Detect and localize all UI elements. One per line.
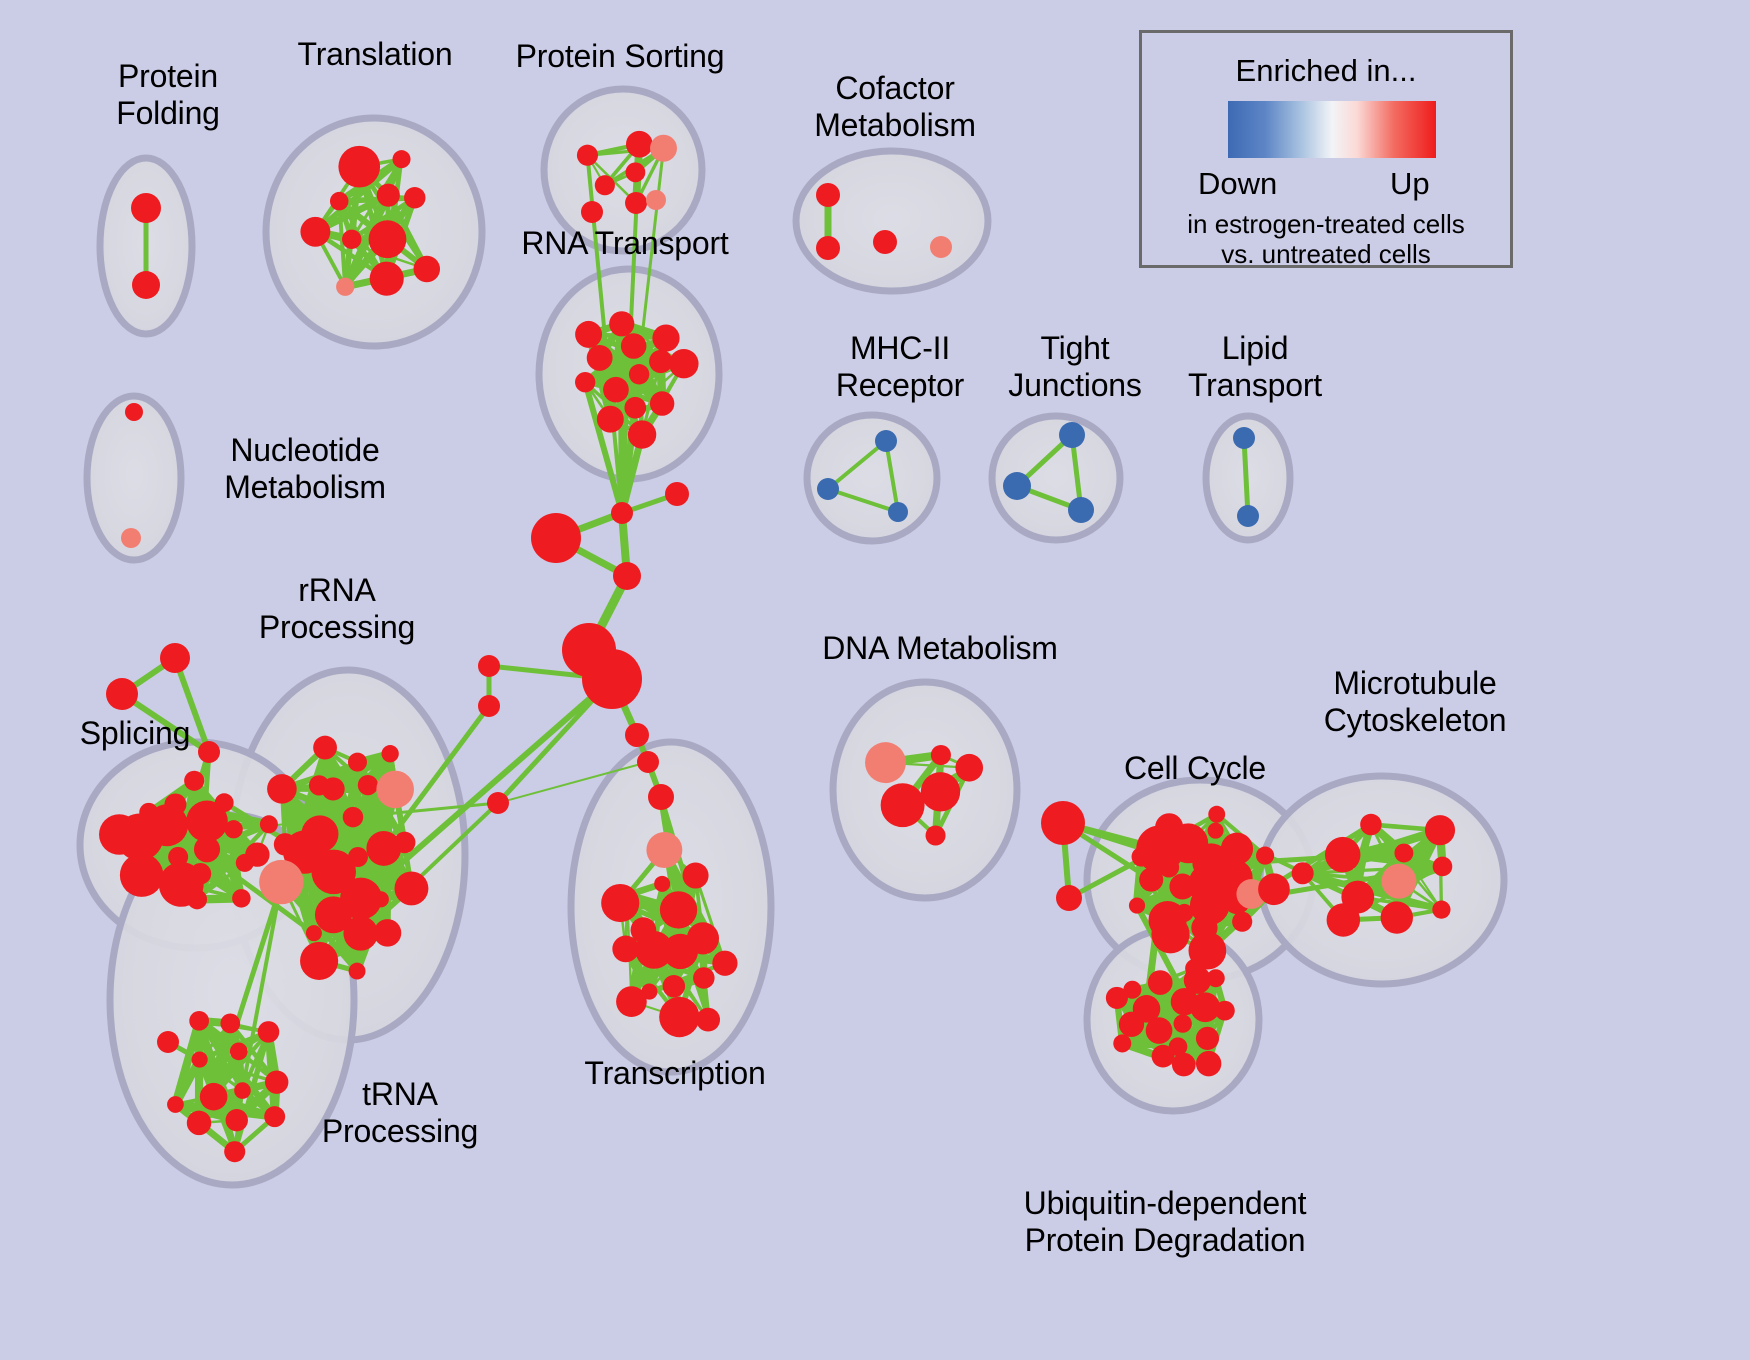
node-splicing — [120, 853, 163, 896]
node-rna-transport — [587, 345, 613, 371]
node-splicing — [99, 814, 140, 855]
node-rrna-processing — [348, 753, 367, 772]
node-trna-processing — [265, 1070, 288, 1093]
node-splicing — [139, 803, 158, 822]
node-trna-processing — [192, 1051, 208, 1067]
node-rrna-processing — [358, 775, 378, 795]
node-trna-processing — [187, 1111, 211, 1135]
node-splicing — [232, 889, 251, 908]
node-ubiquitin-degradation — [1148, 970, 1173, 995]
node-transcription — [601, 884, 639, 922]
node-transcription — [612, 936, 639, 963]
node-cell-cycle — [1155, 813, 1183, 841]
node-rrna-processing — [267, 774, 297, 804]
node-ubiquitin-degradation — [1106, 987, 1128, 1009]
node-cell-cycle — [1208, 823, 1224, 839]
node-dna-metabolism — [931, 745, 951, 765]
node-transcription — [693, 967, 715, 989]
node-protein-folding — [132, 271, 160, 299]
cluster-label-splicing: Splicing — [60, 715, 210, 752]
node-rrna-processing — [306, 925, 322, 941]
node-rna-transport — [575, 372, 595, 392]
node-mhc-ii-receptor — [817, 478, 839, 500]
node-ubiquitin-degradation — [1119, 1012, 1144, 1037]
cluster-label-rna-transport: RNA Transport — [510, 225, 740, 262]
node-ubiquitin-degradation — [1113, 1034, 1131, 1052]
node-cofactor-metabolism — [930, 236, 952, 258]
node-nucleotide-metabolism — [121, 528, 141, 548]
node-rna-transport — [669, 349, 698, 378]
cluster-label-cell-cycle: Cell Cycle — [1105, 750, 1285, 787]
node-trna-processing — [258, 1021, 280, 1043]
node-rna-transport — [597, 406, 624, 433]
node-tight-junctions — [1059, 422, 1085, 448]
node-bridge — [613, 562, 641, 590]
node-bridge — [487, 792, 509, 814]
node-bridge — [478, 695, 500, 717]
node-splicing — [260, 815, 278, 833]
node-dna-metabolism — [926, 825, 946, 845]
cluster-label-dna-metabolism: DNA Metabolism — [810, 630, 1070, 667]
node-cell-cycle — [1132, 847, 1152, 867]
node-dna-metabolism — [881, 783, 925, 827]
node-rrna-processing — [274, 833, 296, 855]
node-ubiquitin-degradation — [1152, 1045, 1175, 1068]
node-mhc-ii-receptor — [888, 502, 908, 522]
node-protein-sorting — [650, 135, 677, 162]
node-rrna-processing — [300, 942, 338, 980]
node-splicing — [245, 842, 269, 866]
node-cell-cycle — [1129, 898, 1145, 914]
node-rrna-processing — [343, 807, 364, 828]
node-cell-cycle — [1151, 915, 1189, 953]
node-splicing — [225, 820, 243, 838]
node-translation — [338, 146, 380, 188]
node-ubiquitin-degradation — [1174, 1014, 1192, 1032]
node-microtubule-cytoskeleton — [1360, 814, 1382, 836]
node-rrna-processing — [309, 775, 329, 795]
node-translation — [342, 230, 361, 249]
node-rrna-processing — [259, 860, 303, 904]
node-dna-metabolism — [955, 754, 983, 782]
node-mhc-ii-receptor — [875, 430, 897, 452]
node-translation — [336, 278, 354, 296]
node-bridge — [157, 1031, 179, 1053]
node-rrna-processing — [394, 871, 428, 905]
node-transcription — [687, 922, 719, 954]
node-microtubule-cytoskeleton — [1292, 862, 1314, 884]
node-rrna-processing — [349, 963, 366, 980]
node-lipid-transport — [1233, 427, 1255, 449]
node-transcription — [654, 876, 670, 892]
node-splicing — [215, 793, 234, 812]
node-trna-processing — [226, 1109, 248, 1131]
node-microtubule-cytoskeleton — [1325, 837, 1361, 873]
node-microtubule-cytoskeleton — [1433, 857, 1453, 877]
node-protein-sorting — [595, 175, 615, 195]
node-ubiquitin-degradation — [1185, 959, 1204, 978]
node-transcription — [712, 951, 737, 976]
cluster-label-transcription: Transcription — [570, 1055, 780, 1092]
cluster-label-lipid-transport: Lipid Transport — [1165, 330, 1345, 404]
node-protein-sorting — [625, 192, 647, 214]
enrichment-network-figure: Protein FoldingTranslationProtein Sortin… — [0, 0, 1750, 1360]
node-protein-sorting — [577, 145, 598, 166]
node-cell-cycle — [1208, 806, 1225, 823]
node-protein-sorting — [626, 131, 653, 158]
node-trna-processing — [230, 1042, 248, 1060]
node-lipid-transport — [1237, 505, 1259, 527]
node-transcription — [663, 975, 685, 997]
node-cell-cycle — [1169, 874, 1195, 900]
node-ubiquitin-degradation — [1207, 969, 1225, 987]
node-trna-processing — [264, 1106, 285, 1127]
node-transcription — [683, 862, 709, 888]
node-bridge — [646, 190, 666, 210]
cluster-label-protein-folding: Protein Folding — [78, 58, 258, 132]
node-trna-processing — [167, 1096, 184, 1113]
node-splicing — [164, 793, 186, 815]
node-rrna-processing — [381, 745, 398, 762]
node-microtubule-cytoskeleton — [1381, 901, 1413, 933]
node-rna-transport — [652, 324, 679, 351]
node-bridge — [160, 643, 190, 673]
node-tight-junctions — [1068, 497, 1094, 523]
node-bridge — [625, 723, 649, 747]
cluster-label-ubiquitin-degradation: Ubiquitin-dependent Protein Degradation — [995, 1185, 1335, 1259]
node-splicing — [184, 771, 204, 791]
node-translation — [404, 187, 425, 208]
node-rrna-processing — [343, 916, 378, 951]
node-cofactor-metabolism — [816, 236, 840, 260]
cluster-label-mhc-ii-receptor: MHC-II Receptor — [810, 330, 990, 404]
node-rna-transport — [575, 321, 602, 348]
node-bridge — [106, 678, 138, 710]
cluster-label-protein-sorting: Protein Sorting — [495, 38, 745, 75]
node-translation — [330, 192, 348, 210]
node-transcription — [659, 997, 699, 1037]
node-cell-cycle — [1221, 833, 1253, 865]
node-transcription — [660, 891, 697, 928]
node-rna-transport — [609, 311, 634, 336]
node-bridge — [581, 201, 603, 223]
node-microtubule-cytoskeleton — [1425, 815, 1455, 845]
node-rna-transport — [629, 364, 649, 384]
node-rna-transport — [624, 397, 646, 419]
node-translation — [393, 150, 411, 168]
cluster-label-cofactor-metabolism: Cofactor Metabolism — [795, 70, 995, 144]
node-ubiquitin-degradation — [1196, 1051, 1221, 1076]
node-cell-cycle — [1256, 847, 1274, 865]
node-cofactor-metabolism — [816, 183, 840, 207]
node-translation — [377, 184, 400, 207]
node-rna-transport — [650, 391, 674, 415]
legend-title: Enriched in... — [1142, 53, 1510, 89]
node-nucleotide-metabolism — [125, 403, 143, 421]
node-dna-metabolism — [921, 772, 960, 811]
cluster-label-tight-junctions: Tight Junctions — [985, 330, 1165, 404]
node-bridge — [478, 655, 500, 677]
node-translation — [300, 217, 330, 247]
node-tight-junctions — [1003, 472, 1031, 500]
node-trna-processing — [200, 1083, 228, 1111]
legend-down-label: Down — [1198, 166, 1277, 202]
node-rrna-processing — [373, 891, 389, 907]
node-bridge — [1041, 801, 1085, 845]
node-microtubule-cytoskeleton — [1432, 901, 1450, 919]
node-rna-transport — [603, 377, 629, 403]
node-trna-processing — [234, 1082, 251, 1099]
node-bridge — [665, 482, 689, 506]
node-ubiquitin-degradation — [1172, 1053, 1196, 1077]
node-trna-processing — [224, 1141, 245, 1162]
node-microtubule-cytoskeleton — [1327, 903, 1360, 936]
cluster-label-rrna-processing: rRNA Processing — [242, 572, 432, 646]
node-bridge — [1056, 885, 1082, 911]
node-translation — [414, 256, 440, 282]
cluster-ellipse-mhc-ii-receptor — [807, 415, 937, 541]
legend-subtitle: in estrogen-treated cells vs. untreated … — [1142, 209, 1510, 269]
node-rna-transport — [649, 350, 672, 373]
node-splicing — [187, 889, 207, 909]
node-trna-processing — [220, 1014, 240, 1034]
node-bridge — [637, 751, 659, 773]
cluster-label-microtubule-cytoskeleton: Microtubule Cytoskeleton — [1310, 665, 1520, 739]
node-rrna-processing — [374, 919, 402, 947]
cluster-label-trna-processing: tRNA Processing — [305, 1076, 495, 1150]
node-rna-transport — [621, 333, 647, 359]
node-protein-sorting — [626, 162, 646, 182]
node-bridge — [611, 502, 633, 524]
legend-color-gradient-bar — [1228, 101, 1436, 158]
node-cell-cycle — [1232, 912, 1252, 932]
node-rrna-processing — [313, 736, 337, 760]
node-translation — [370, 262, 404, 296]
node-translation — [369, 220, 407, 258]
node-bridge — [531, 513, 581, 563]
node-microtubule-cytoskeleton — [1394, 844, 1413, 863]
legend-up-label: Up — [1390, 166, 1430, 202]
node-protein-folding — [131, 193, 161, 223]
node-ubiquitin-degradation — [1196, 1027, 1219, 1050]
node-dna-metabolism — [865, 742, 906, 783]
node-trna-processing — [189, 1011, 209, 1031]
node-rna-transport — [628, 420, 656, 448]
node-transcription — [646, 832, 682, 868]
node-rrna-processing — [376, 771, 414, 809]
node-transcription — [616, 986, 647, 1017]
node-bridge — [582, 649, 642, 709]
node-cofactor-metabolism — [873, 230, 897, 254]
node-rrna-processing — [394, 832, 416, 854]
legend-box: Enriched in... Down Up in estrogen-treat… — [1139, 30, 1513, 268]
cluster-label-translation: Translation — [275, 36, 475, 73]
node-cell-cycle — [1258, 873, 1290, 905]
node-ubiquitin-degradation — [1215, 1001, 1235, 1021]
node-bridge — [648, 784, 674, 810]
cluster-label-nucleotide-metabolism: Nucleotide Metabolism — [200, 432, 410, 506]
node-microtubule-cytoskeleton — [1381, 864, 1416, 899]
node-transcription — [696, 1008, 720, 1032]
